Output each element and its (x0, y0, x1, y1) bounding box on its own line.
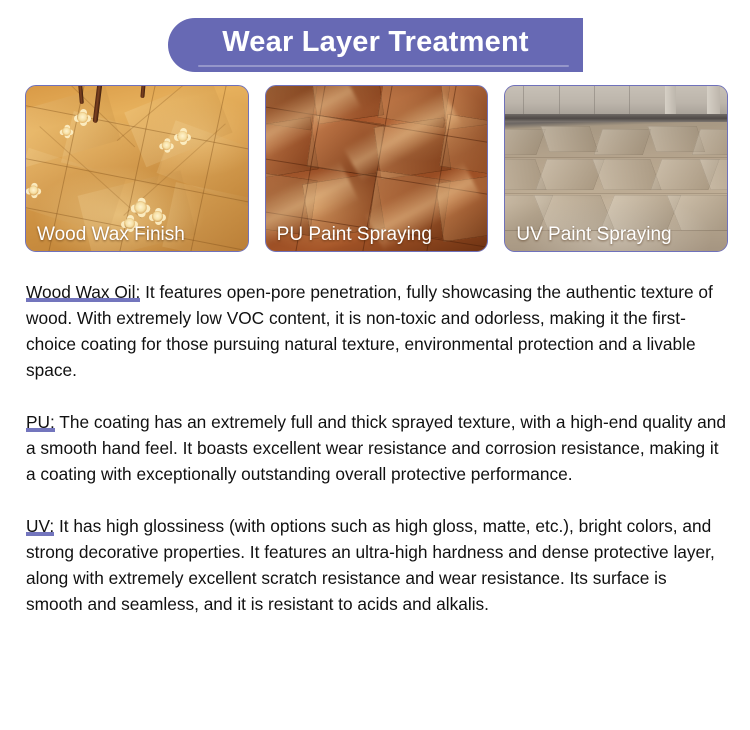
wall-panel-line (523, 86, 524, 114)
finish-sample-caption: Wood Wax Finish (37, 225, 185, 246)
floral-inlay (134, 201, 147, 214)
description-pu: PU: The coating has an extremely full an… (26, 409, 726, 487)
description-label-pu: PU: (26, 412, 55, 432)
parquet-tile (666, 195, 728, 231)
wear-layer-treatment-page: Wear Layer Treatment (0, 0, 750, 730)
wall-panel-line (559, 86, 560, 114)
description-text-uv: It has high glossiness (with options suc… (26, 516, 715, 614)
parquet-tile (594, 129, 651, 155)
page-title: Wear Layer Treatment (222, 28, 529, 57)
room-wall (505, 86, 727, 114)
table-leg (141, 85, 146, 98)
parquet-tile (504, 129, 545, 155)
parquet-seam (504, 193, 728, 194)
finish-sample-gallery: Wood Wax Finish (25, 85, 728, 252)
room-pillar (665, 86, 676, 114)
description-label-wood-wax-oil: Wood Wax Oil: (26, 282, 140, 302)
finish-sample-card-wood-wax[interactable]: Wood Wax Finish (25, 85, 249, 252)
floral-inlay (152, 211, 163, 222)
floral-inlay (177, 131, 188, 142)
room-pillar (707, 86, 720, 117)
description-label-uv: UV: (26, 516, 54, 536)
finish-sample-card-pu-paint[interactable]: PU Paint Spraying (265, 85, 489, 252)
room-baseboard (505, 114, 727, 122)
finish-descriptions: Wood Wax Oil: It features open-pore pene… (26, 279, 726, 617)
parquet-tile (541, 126, 598, 152)
banner-sheen-line (198, 65, 569, 67)
description-uv: UV: It has high glossiness (with options… (26, 513, 718, 617)
finish-sample-caption: UV Paint Spraying (516, 225, 671, 246)
page-title-banner: Wear Layer Treatment (168, 18, 583, 72)
wall-panel-line (594, 86, 595, 114)
description-text-pu: The coating has an extremely full and th… (26, 412, 726, 484)
description-wood-wax-oil: Wood Wax Oil: It features open-pore pene… (26, 279, 726, 383)
finish-sample-card-uv-paint[interactable]: UV Paint Spraying (504, 85, 728, 252)
finish-sample-caption: PU Paint Spraying (277, 225, 432, 246)
wall-panel-line (629, 86, 630, 114)
parquet-seam (504, 157, 728, 158)
